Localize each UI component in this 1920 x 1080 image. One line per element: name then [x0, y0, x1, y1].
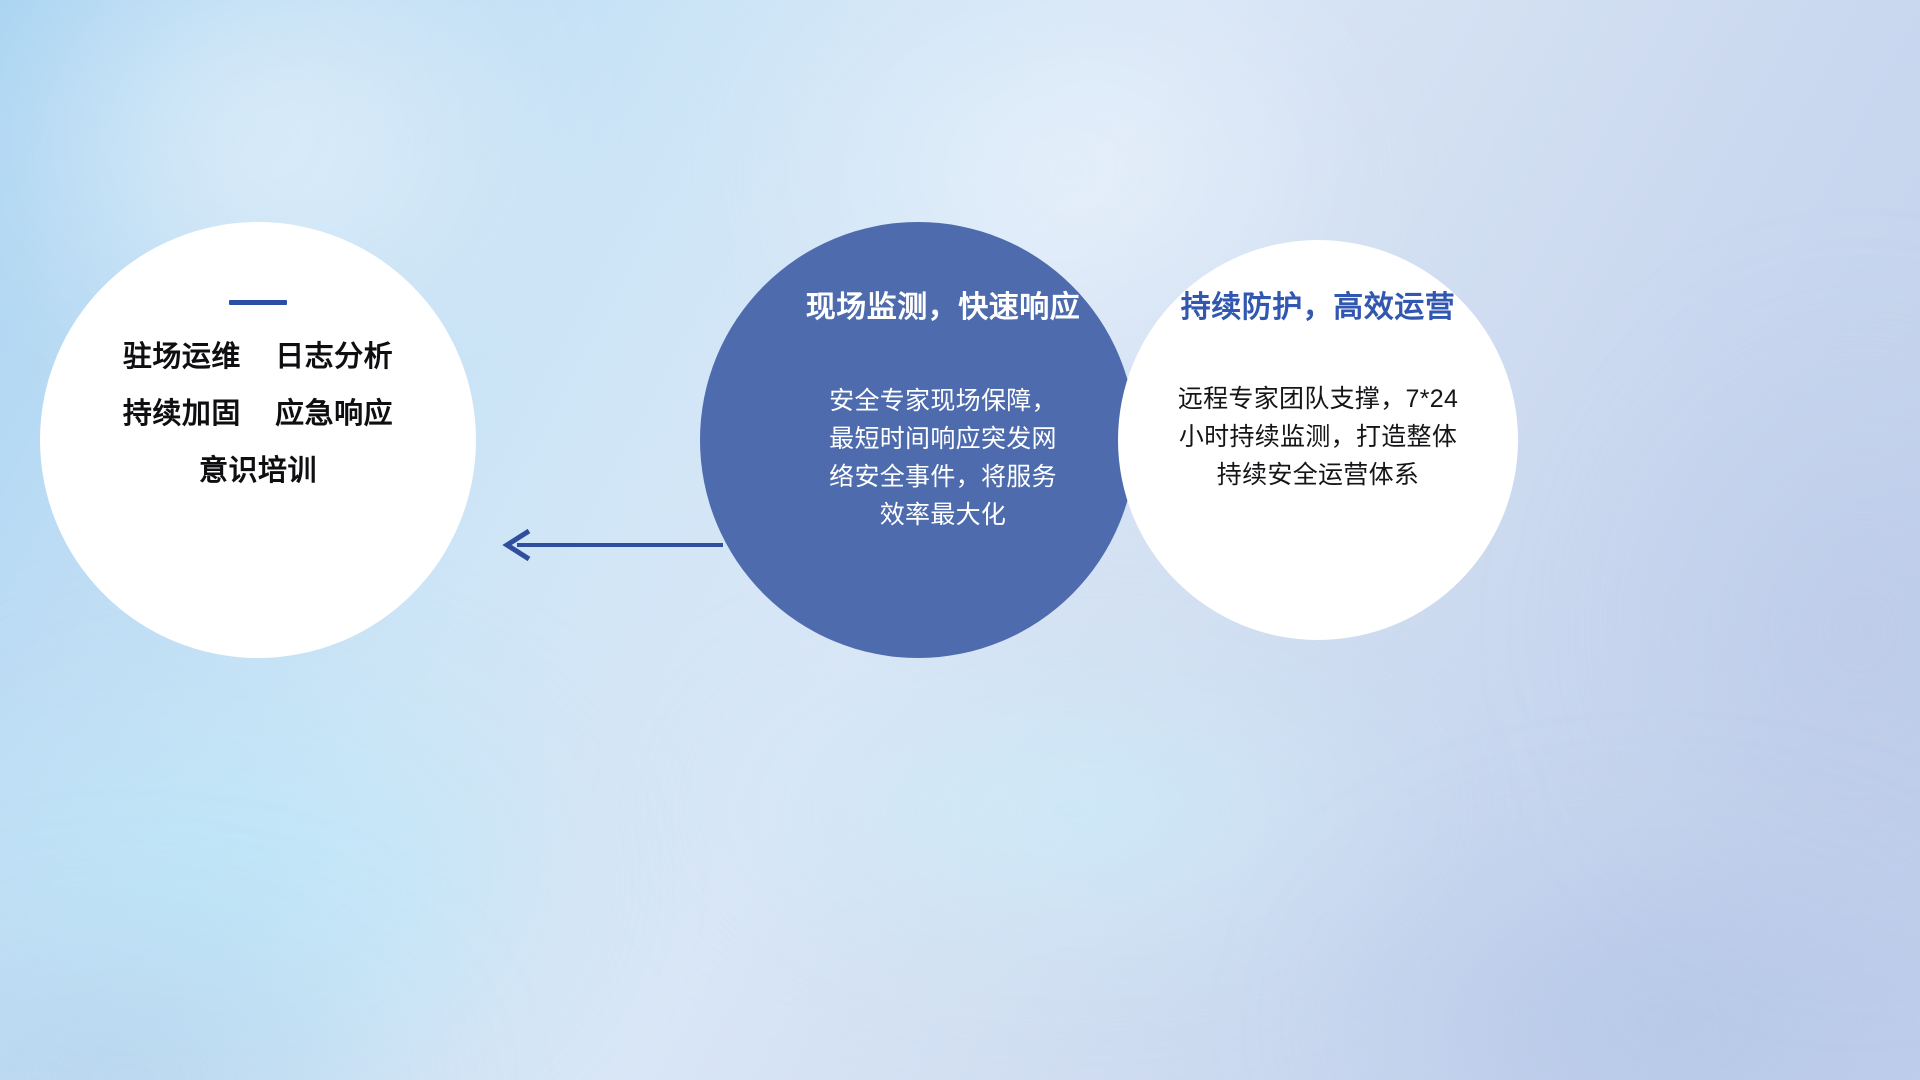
right-circle-content: 持续防护，高效运营 远程专家团队支撑，7*24 小时持续监测，打造整体 持续安全… — [1138, 282, 1498, 494]
middle-body-line-1: 安全专家现场保障， — [793, 382, 1093, 420]
right-body-line-3: 持续安全运营体系 — [1143, 456, 1493, 494]
left-circle-line-3: 意识培训 — [199, 457, 317, 486]
short-dash-divider-icon — [229, 300, 287, 305]
right-circle-title: 持续防护，高效运营 — [1181, 282, 1456, 326]
right-operations-circle: 持续防护，高效运营 远程专家团队支撑，7*24 小时持续监测，打造整体 持续安全… — [1118, 240, 1518, 640]
background-glow-right — [1480, 180, 1920, 1080]
background-glow-lower-right — [1180, 760, 1920, 1080]
middle-body-line-2: 最短时间响应突发网 — [793, 420, 1093, 458]
background-glow-lower-left — [0, 560, 740, 1080]
middle-circle-body: 安全专家现场保障， 最短时间响应突发网 络安全事件，将服务 效率最大化 — [793, 382, 1093, 534]
middle-body-line-3: 络安全事件，将服务 — [793, 458, 1093, 496]
right-body-line-2: 小时持续监测，打造整体 — [1143, 418, 1493, 456]
middle-circle-title: 现场监测，快速响应 — [806, 282, 1081, 326]
background-glow-bottom-left — [0, 840, 580, 1080]
background-glow-lower-center — [520, 600, 1620, 1020]
left-circle-line-1: 驻场运维 日志分析 — [123, 343, 393, 372]
right-circle-body: 远程专家团队支撑，7*24 小时持续监测，打造整体 持续安全运营体系 — [1143, 380, 1493, 494]
middle-body-line-4: 效率最大化 — [793, 496, 1093, 534]
left-arrow-icon — [495, 520, 725, 570]
right-body-line-1: 远程专家团队支撑，7*24 — [1143, 380, 1493, 418]
middle-circle-content: 现场监测，快速响应 安全专家现场保障， 最短时间响应突发网 络安全事件，将服务 … — [750, 282, 1136, 612]
left-circle-line-2: 持续加固 应急响应 — [123, 400, 393, 429]
left-capability-circle: 驻场运维 日志分析 持续加固 应急响应 意识培训 — [40, 222, 476, 658]
middle-onsite-circle: 现场监测，快速响应 安全专家现场保障， 最短时间响应突发网 络安全事件，将服务 … — [700, 222, 1136, 658]
